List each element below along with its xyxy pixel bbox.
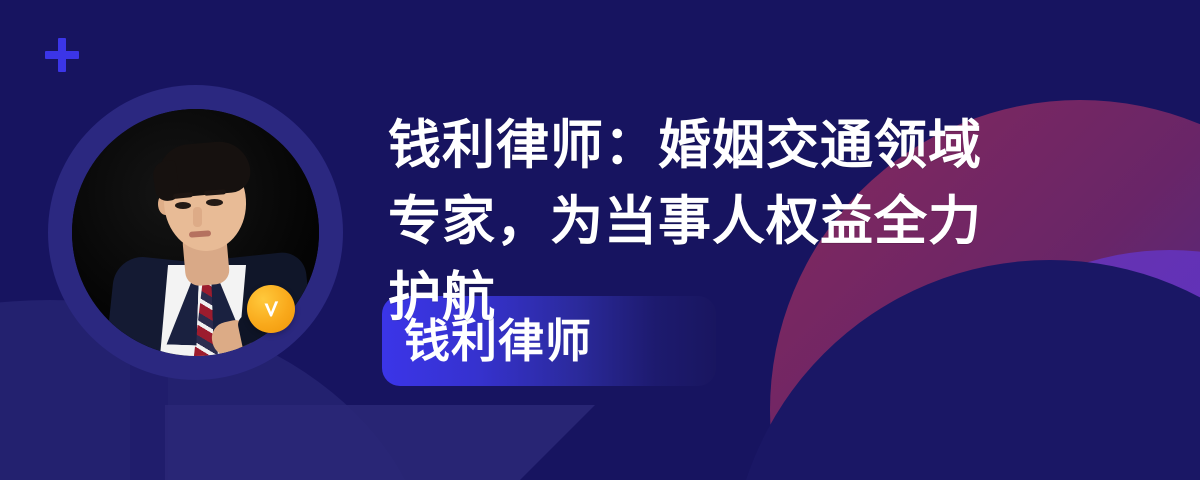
headline-block: 钱利律师：婚姻交通领域 专家，为当事人权益全力 护航 [388,108,1088,336]
decor-triangle [165,405,595,480]
plus-icon [45,38,79,72]
promo-banner: 钱利律师 钱利律师：婚姻交通领域 专家，为当事人权益全力 护航 [0,0,1200,480]
verified-v-icon [247,285,295,333]
avatar [48,85,343,380]
page-title: 钱利律师：婚姻交通领域 专家，为当事人权益全力 护航 [388,108,1088,336]
